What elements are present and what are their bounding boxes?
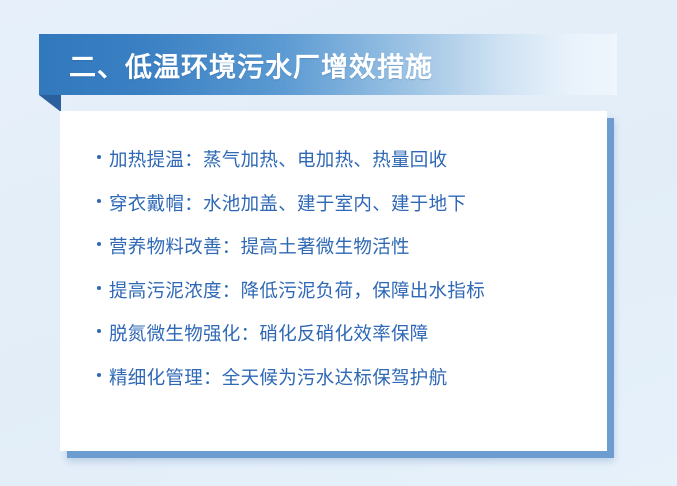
list-item-label: 脱氮微生物强化：硝化反硝化效率保障 xyxy=(109,320,429,346)
measures-list: 加热提温：蒸气加热、电加热、热量回收 穿衣戴帽：水池加盖、建于室内、建于地下 营… xyxy=(97,146,593,407)
content-card: 加热提温：蒸气加热、电加热、热量回收 穿衣戴帽：水池加盖、建于室内、建于地下 营… xyxy=(60,111,607,451)
bullet-icon xyxy=(97,237,109,255)
list-item: 脱氮微生物强化：硝化反硝化效率保障 xyxy=(97,320,593,364)
list-item-label: 提高污泥浓度：降低污泥负荷，保障出水指标 xyxy=(109,277,485,303)
bullet-icon xyxy=(97,150,109,168)
ribbon-fold-corner xyxy=(39,95,61,112)
section-banner: 二、低温环境污水厂增效措施 xyxy=(39,34,617,95)
list-item-label: 加热提温：蒸气加热、电加热、热量回收 xyxy=(109,146,447,172)
bullet-icon xyxy=(97,368,109,386)
list-item: 营养物料改善：提高土著微生物活性 xyxy=(97,233,593,277)
bullet-icon xyxy=(97,281,109,299)
list-item-label: 营养物料改善：提高土著微生物活性 xyxy=(109,233,410,259)
list-item: 加热提温：蒸气加热、电加热、热量回收 xyxy=(97,146,593,190)
list-item-label: 精细化管理：全天候为污水达标保驾护航 xyxy=(109,364,447,390)
bullet-icon xyxy=(97,194,109,212)
list-item-label: 穿衣戴帽：水池加盖、建于室内、建于地下 xyxy=(109,190,466,216)
list-item: 精细化管理：全天候为污水达标保驾护航 xyxy=(97,364,593,408)
list-item: 穿衣戴帽：水池加盖、建于室内、建于地下 xyxy=(97,190,593,234)
section-title: 二、低温环境污水厂增效措施 xyxy=(69,45,433,84)
list-item: 提高污泥浓度：降低污泥负荷，保障出水指标 xyxy=(97,277,593,321)
slide-root: 加热提温：蒸气加热、电加热、热量回收 穿衣戴帽：水池加盖、建于室内、建于地下 营… xyxy=(0,0,677,486)
bullet-icon xyxy=(97,324,109,342)
